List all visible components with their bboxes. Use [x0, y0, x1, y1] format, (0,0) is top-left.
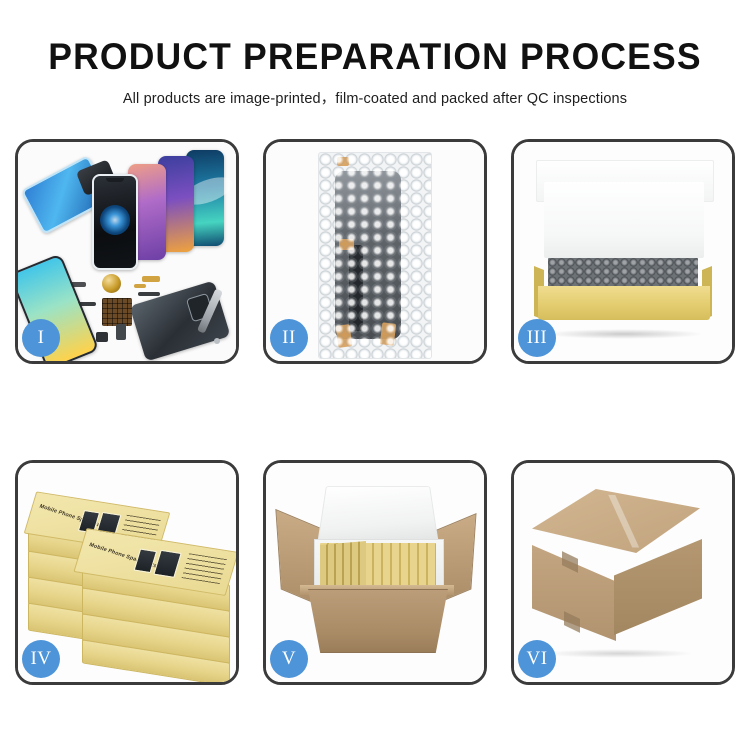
- page-title: PRODUCT PREPARATION PROCESS: [15, 38, 735, 75]
- flex-cable-3: [138, 292, 160, 296]
- process-step-6[interactable]: VI: [511, 460, 735, 685]
- box-window-front-2: [153, 550, 181, 578]
- process-step-5[interactable]: V: [263, 460, 487, 685]
- chip-grid-part: [102, 298, 132, 326]
- speaker-part: [116, 324, 126, 340]
- gold-connector-1: [142, 276, 160, 282]
- step-badge-4: IV: [22, 640, 60, 678]
- process-step-3[interactable]: III: [511, 139, 735, 364]
- process-step-4[interactable]: Mobile Phone Spare Parts Mobile Phone Sp…: [15, 460, 239, 685]
- yellow-box-front: [538, 286, 710, 320]
- bubble-texture-overlay: [319, 153, 431, 358]
- page-header: PRODUCT PREPARATION PROCESS All products…: [0, 0, 750, 108]
- box-spec-lines-front: [182, 553, 227, 584]
- process-step-grid: I II III: [15, 139, 735, 685]
- styrofoam-lid: [317, 486, 438, 542]
- box-stack: Mobile Phone Spare Parts Mobile Phone Sp…: [26, 477, 230, 673]
- step-badge-5: V: [270, 640, 308, 678]
- step-badge-2: II: [270, 319, 308, 357]
- page-subtitle: All products are image-printed，film-coat…: [0, 87, 750, 108]
- process-step-1[interactable]: I: [15, 139, 239, 364]
- bubble-wrap-bag: [318, 152, 432, 359]
- white-foam-liner: [544, 182, 704, 258]
- carton-shadow: [544, 649, 694, 658]
- camera-module-part: [96, 332, 108, 342]
- grey-foam-padding: [548, 258, 698, 288]
- screw-part: [214, 338, 220, 344]
- gold-coil-part: [102, 274, 121, 293]
- carton-front-wall: [302, 589, 454, 653]
- yellow-boxes-row-angled: [320, 541, 366, 589]
- step-badge-3: III: [518, 319, 556, 357]
- process-step-2[interactable]: II: [263, 139, 487, 364]
- gold-connector-2: [134, 284, 146, 288]
- front-glass-panel: [92, 174, 138, 270]
- step-badge-6: VI: [518, 640, 556, 678]
- step-badge-1: I: [22, 319, 60, 357]
- box-shadow: [544, 329, 704, 339]
